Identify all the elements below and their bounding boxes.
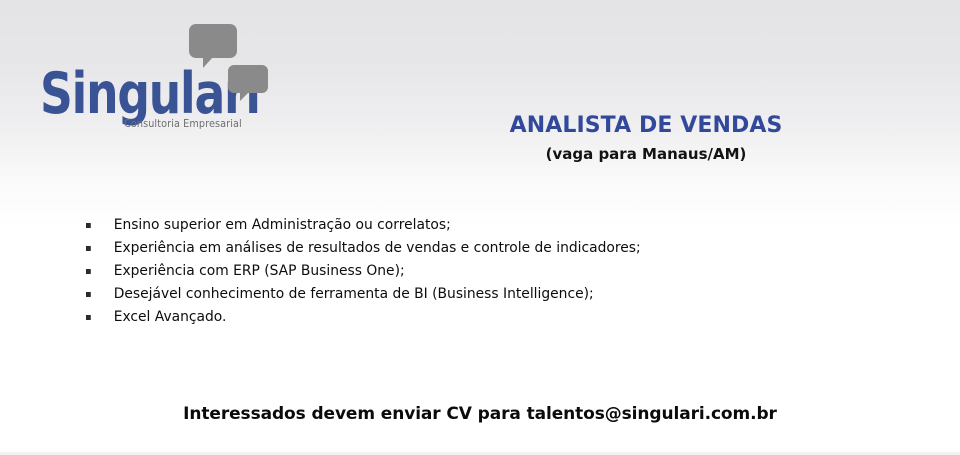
requirement-text: Experiência em análises de resultados de… [114,240,641,256]
headline-group: ANALISTA DE VENDAS (vaga para Manaus/AM) [396,112,896,164]
square-bullet-icon [86,315,91,320]
requirement-text: Experiência com ERP (SAP Business One); [114,263,405,279]
small-speech-bubble-icon [228,65,268,101]
logo-tagline: Consultoria Empresarial [124,117,242,130]
job-title: ANALISTA DE VENDAS [396,112,896,139]
requirement-item: Experiência em análises de resultados de… [86,237,812,260]
square-bullet-icon [86,223,91,228]
requirement-item: Experiência com ERP (SAP Business One); [86,260,812,283]
contact-instruction: Interessados devem enviar CV para talent… [0,402,960,426]
square-bullet-icon [86,292,91,297]
large-speech-bubble-icon [189,24,237,68]
requirement-item: Ensino superior em Administração ou corr… [86,214,812,237]
square-bullet-icon [86,246,91,251]
requirement-text: Excel Avançado. [114,309,227,325]
requirement-text: Ensino superior em Administração ou corr… [114,217,451,233]
requirements-list: Ensino superior em Administração ou corr… [86,214,846,329]
requirement-text: Desejável conhecimento de ferramenta de … [114,286,594,302]
square-bullet-icon [86,269,91,274]
requirement-item: Excel Avançado. [86,306,812,329]
requirement-item: Desejável conhecimento de ferramenta de … [86,283,812,306]
job-location: (vaga para Manaus/AM) [396,144,896,164]
speech-bubbles-graphic [185,18,280,103]
job-posting-poster: Singulari Consultoria Empresarial ANALIS… [0,0,960,455]
